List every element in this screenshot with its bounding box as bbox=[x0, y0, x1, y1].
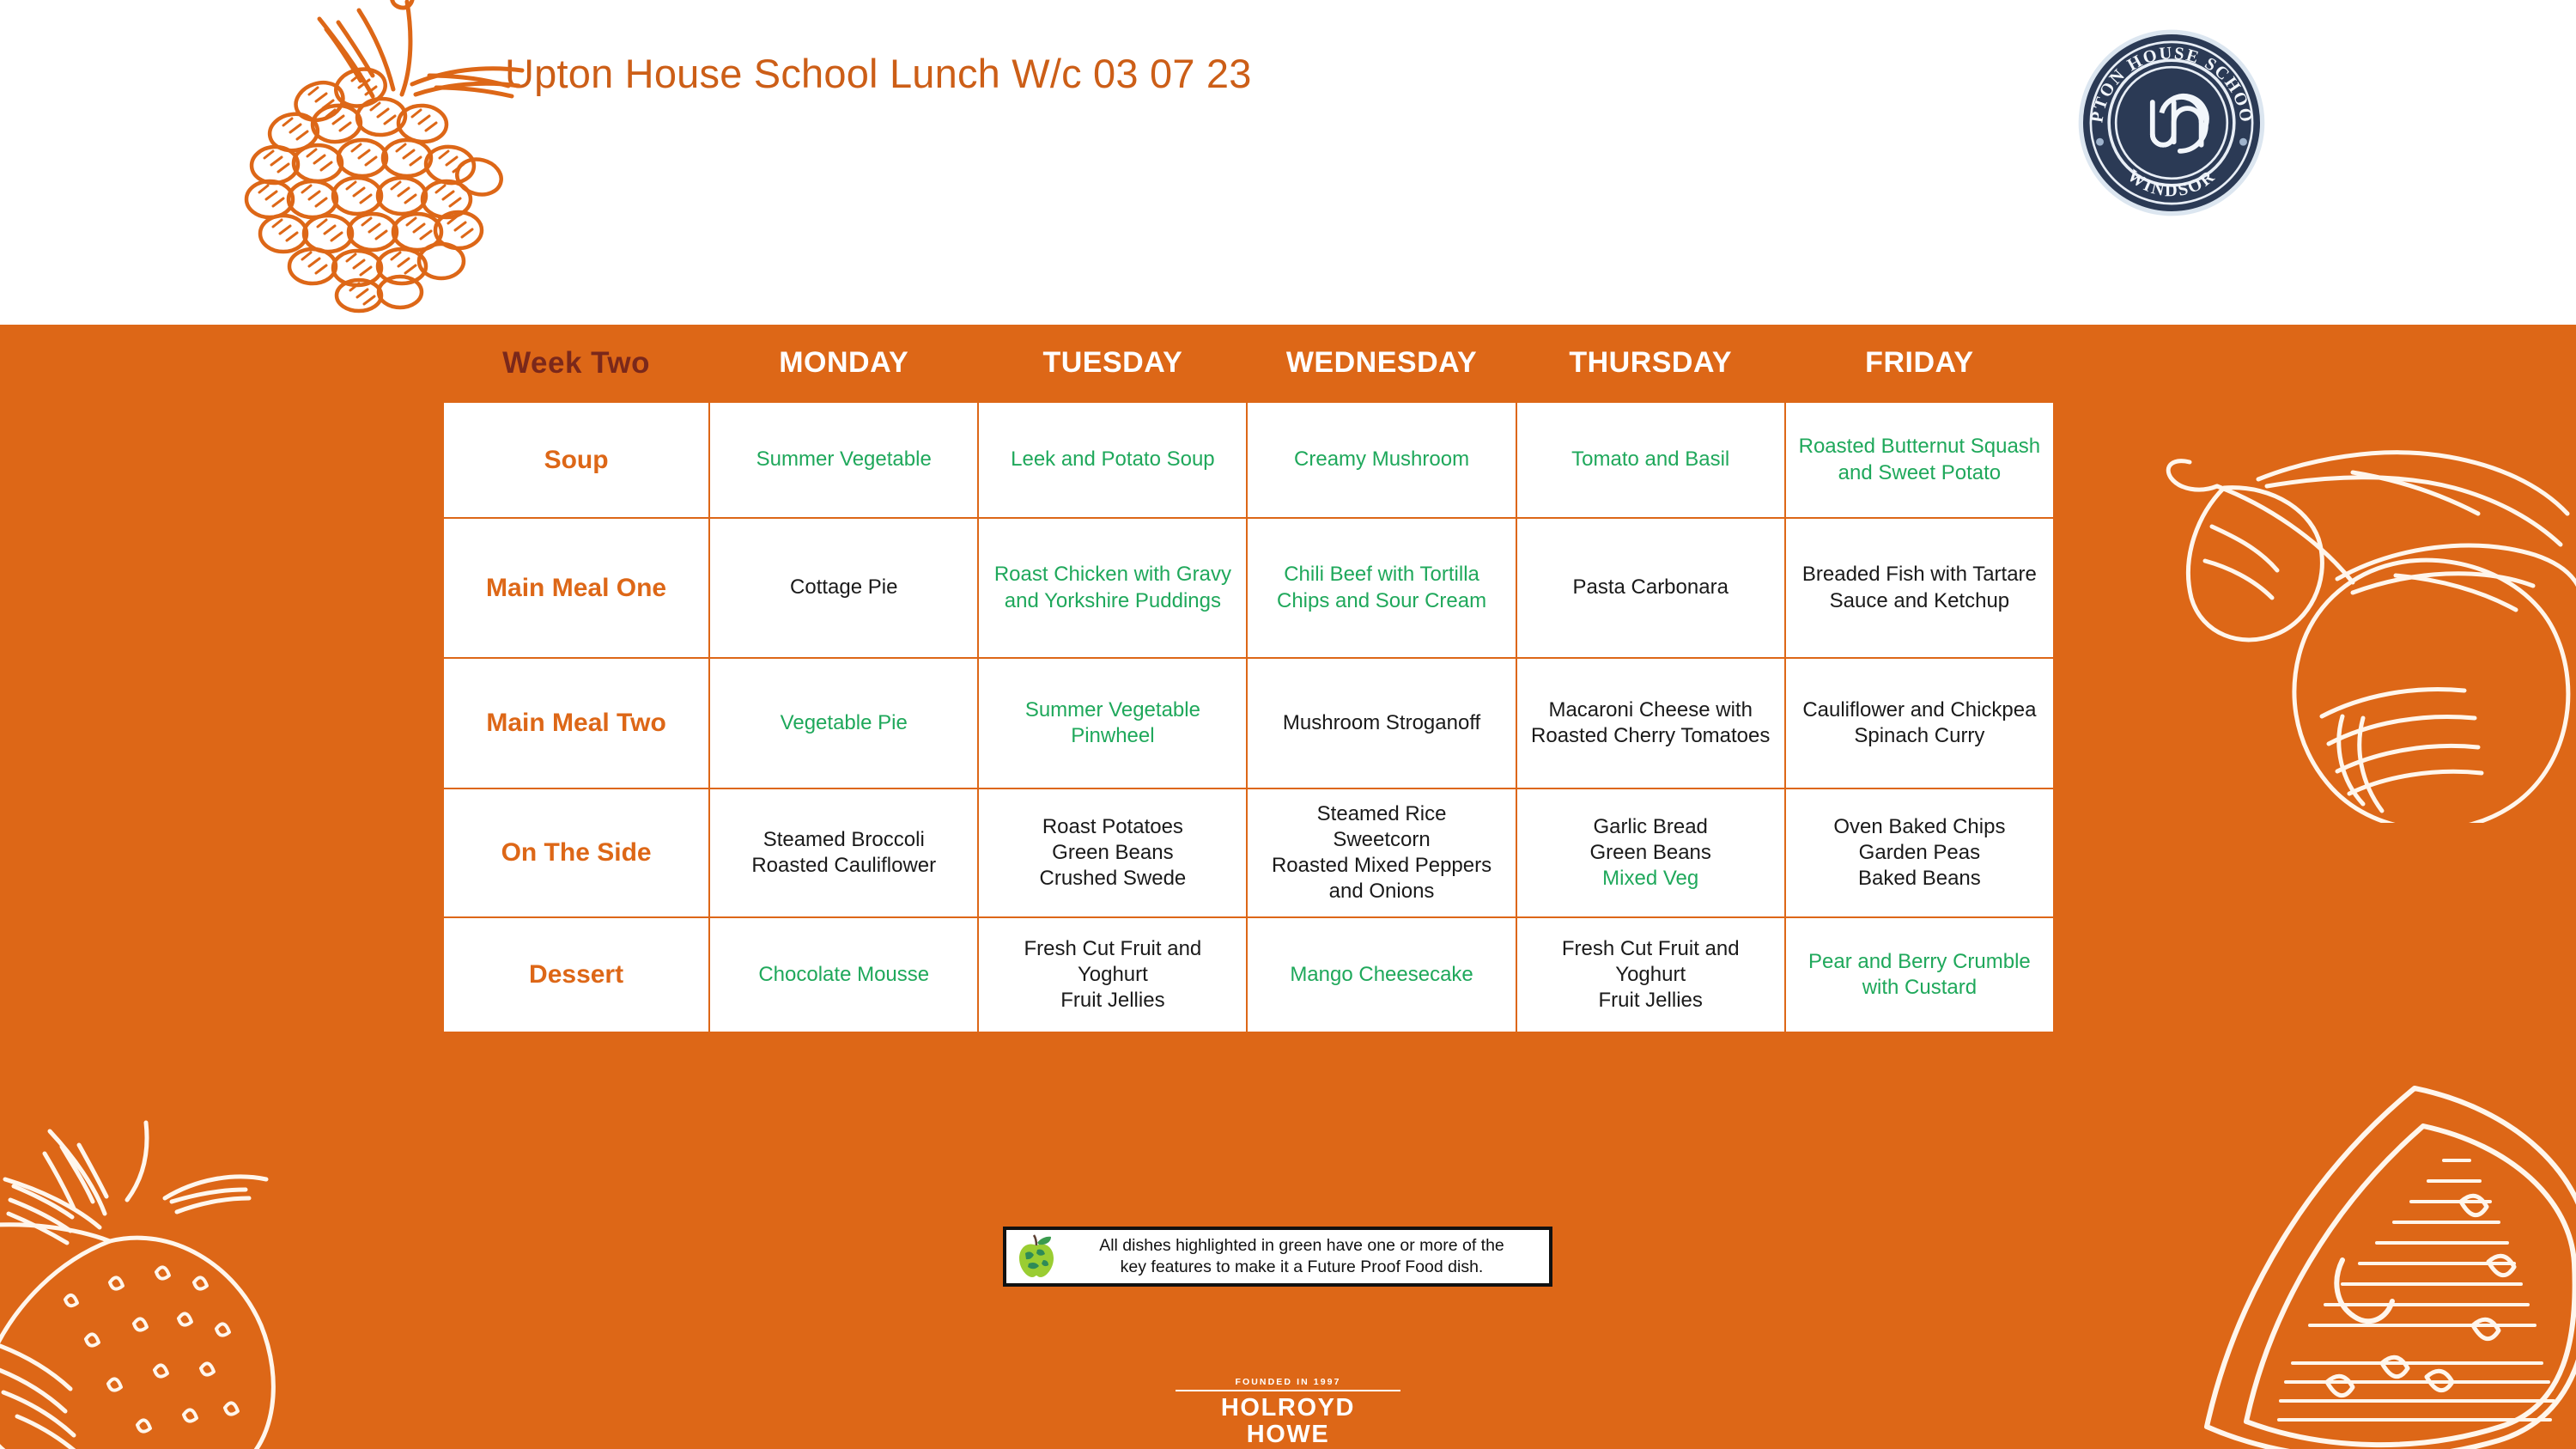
menu-cell-on-the-side-monday: Steamed BroccoliRoasted Cauliflower bbox=[709, 788, 978, 917]
dish-name: Roast Potatoes bbox=[989, 814, 1236, 840]
raspberry-illustration bbox=[230, 0, 539, 328]
menu-cell-dessert-monday: Chocolate Mousse bbox=[709, 917, 978, 1032]
dish-name: Fresh Cut Fruit and Yoghurt bbox=[989, 936, 1236, 988]
menu-cell-main-meal-one-friday: Breaded Fish with Tartare Sauce and Ketc… bbox=[1785, 518, 2054, 658]
menu-cell-on-the-side-tuesday: Roast PotatoesGreen BeansCrushed Swede bbox=[978, 788, 1247, 917]
menu-cell-on-the-side-friday: Oven Baked ChipsGarden PeasBaked Beans bbox=[1785, 788, 2054, 917]
brand-name: HOLROYD HOWE bbox=[1176, 1393, 1400, 1449]
dish-name: Mushroom Stroganoff bbox=[1258, 710, 1504, 736]
dish-name: Roast Chicken with Gravy and Yorkshire P… bbox=[989, 562, 1236, 613]
dish-name: Chili Beef with Tortilla Chips and Sour … bbox=[1258, 562, 1504, 613]
menu-cell-main-meal-two-tuesday: Summer Vegetable Pinwheel bbox=[978, 658, 1247, 788]
menu-table-body: SoupSummer VegetableLeek and Potato Soup… bbox=[443, 402, 2054, 1032]
dish-name: Green Beans bbox=[1528, 840, 1774, 866]
menu-cell-main-meal-one-tuesday: Roast Chicken with Gravy and Yorkshire P… bbox=[978, 518, 1247, 658]
menu-cell-main-meal-two-monday: Vegetable Pie bbox=[709, 658, 978, 788]
menu-cell-soup-wednesday: Creamy Mushroom bbox=[1247, 402, 1516, 518]
footnote-line-2: key features to make it a Future Proof F… bbox=[1121, 1257, 1484, 1276]
menu-cell-main-meal-two-thursday: Macaroni Cheese with Roasted Cherry Toma… bbox=[1516, 658, 1785, 788]
dish-name: Summer Vegetable bbox=[720, 447, 967, 472]
row-label-main-meal-two: Main Meal Two bbox=[443, 658, 709, 788]
dish-name: Garden Peas bbox=[1796, 840, 2043, 866]
dish-name: Mixed Veg bbox=[1528, 866, 1774, 892]
dish-name: Oven Baked Chips bbox=[1796, 814, 2043, 840]
menu-table-header: Week Two MONDAY TUESDAY WEDNESDAY THURSD… bbox=[443, 325, 2054, 402]
dish-name: Sweetcorn bbox=[1258, 827, 1504, 853]
menu-cell-on-the-side-thursday: Garlic BreadGreen BeansMixed Veg bbox=[1516, 788, 1785, 917]
header-row: Week Two MONDAY TUESDAY WEDNESDAY THURSD… bbox=[443, 325, 2054, 402]
menu-row-main-meal-one: Main Meal OneCottage PieRoast Chicken wi… bbox=[443, 518, 2054, 658]
dish-name: Roasted Butternut Squash and Sweet Potat… bbox=[1796, 434, 2043, 485]
dish-name: Steamed Broccoli bbox=[720, 827, 967, 853]
page-title: Upton House School Lunch W/c 03 07 23 bbox=[505, 50, 1252, 97]
row-label-dessert: Dessert bbox=[443, 917, 709, 1032]
dish-name: Leek and Potato Soup bbox=[989, 447, 1236, 472]
dish-name: Chocolate Mousse bbox=[720, 962, 967, 988]
menu-row-on-the-side: On The SideSteamed BroccoliRoasted Cauli… bbox=[443, 788, 2054, 917]
dish-name: Cauliflower and Chickpea Spinach Curry bbox=[1796, 697, 2043, 749]
dish-name: Fruit Jellies bbox=[1528, 988, 1774, 1014]
dish-name: Roasted Cauliflower bbox=[720, 853, 967, 879]
dish-name: Pasta Carbonara bbox=[1528, 575, 1774, 600]
future-proof-food-note: All dishes highlighted in green have one… bbox=[1003, 1227, 1552, 1287]
row-label-on-the-side: On The Side bbox=[443, 788, 709, 917]
dish-name: Garlic Bread bbox=[1528, 814, 1774, 840]
dish-name: Roasted Mixed Peppers and Onions bbox=[1258, 853, 1504, 904]
menu-cell-main-meal-two-wednesday: Mushroom Stroganoff bbox=[1247, 658, 1516, 788]
dish-name: Fruit Jellies bbox=[989, 988, 1236, 1014]
week-label: Week Two bbox=[443, 325, 709, 402]
menu-cell-main-meal-one-monday: Cottage Pie bbox=[709, 518, 978, 658]
watermelon-slice-illustration bbox=[2190, 1080, 2576, 1449]
menu-cell-dessert-friday: Pear and Berry Crumble with Custard bbox=[1785, 917, 2054, 1032]
dish-name: Tomato and Basil bbox=[1528, 447, 1774, 472]
dish-name: Crushed Swede bbox=[989, 866, 1236, 892]
dish-name: Pear and Berry Crumble with Custard bbox=[1796, 949, 2043, 1001]
row-label-main-meal-one: Main Meal One bbox=[443, 518, 709, 658]
day-header-monday: MONDAY bbox=[709, 325, 978, 402]
menu-poster: Upton House School Lunch W/c 03 07 23 bbox=[0, 0, 2576, 1449]
day-header-friday: FRIDAY bbox=[1785, 325, 2054, 402]
menu-row-main-meal-two: Main Meal TwoVegetable PieSummer Vegetab… bbox=[443, 658, 2054, 788]
menu-cell-dessert-wednesday: Mango Cheesecake bbox=[1247, 917, 1516, 1032]
dish-name: Summer Vegetable Pinwheel bbox=[989, 697, 1236, 749]
day-header-tuesday: TUESDAY bbox=[978, 325, 1247, 402]
menu-row-dessert: DessertChocolate MousseFresh Cut Fruit a… bbox=[443, 917, 2054, 1032]
menu-table: Week Two MONDAY TUESDAY WEDNESDAY THURSD… bbox=[442, 325, 2055, 1033]
menu-cell-main-meal-two-friday: Cauliflower and Chickpea Spinach Curry bbox=[1785, 658, 2054, 788]
menu-table-wrapper: Week Two MONDAY TUESDAY WEDNESDAY THURSD… bbox=[442, 325, 2057, 1033]
footnote-line-1: All dishes highlighted in green have one… bbox=[1099, 1236, 1504, 1255]
dish-name: Vegetable Pie bbox=[720, 710, 967, 736]
holroyd-howe-logo: FOUNDED IN 1997 HOLROYD HOWE FEEDING IND… bbox=[1176, 1377, 1400, 1449]
menu-cell-dessert-tuesday: Fresh Cut Fruit and YoghurtFruit Jellies bbox=[978, 917, 1247, 1032]
dish-name: Fresh Cut Fruit and Yoghurt bbox=[1528, 936, 1774, 988]
dish-name: Creamy Mushroom bbox=[1258, 447, 1504, 472]
school-crest-logo: UPTON HOUSE SCHOOL WINDSOR bbox=[2064, 27, 2279, 218]
menu-cell-main-meal-one-wednesday: Chili Beef with Tortilla Chips and Sour … bbox=[1247, 518, 1516, 658]
brand-rule-top bbox=[1176, 1390, 1400, 1391]
dish-name: Cottage Pie bbox=[720, 575, 967, 600]
menu-cell-on-the-side-wednesday: Steamed RiceSweetcornRoasted Mixed Peppe… bbox=[1247, 788, 1516, 917]
day-header-thursday: THURSDAY bbox=[1516, 325, 1785, 402]
menu-cell-soup-thursday: Tomato and Basil bbox=[1516, 402, 1785, 518]
dish-name: Steamed Rice bbox=[1258, 801, 1504, 827]
dish-name: Mango Cheesecake bbox=[1258, 962, 1504, 988]
dish-name: Baked Beans bbox=[1796, 866, 2043, 892]
menu-cell-soup-tuesday: Leek and Potato Soup bbox=[978, 402, 1247, 518]
menu-row-soup: SoupSummer VegetableLeek and Potato Soup… bbox=[443, 402, 2054, 518]
row-label-soup: Soup bbox=[443, 402, 709, 518]
green-apple-globe-icon bbox=[1017, 1234, 1056, 1279]
menu-cell-main-meal-one-thursday: Pasta Carbonara bbox=[1516, 518, 1785, 658]
menu-cell-soup-monday: Summer Vegetable bbox=[709, 402, 978, 518]
peach-illustration bbox=[2138, 376, 2576, 823]
strawberry-illustration bbox=[0, 1097, 292, 1449]
day-header-wednesday: WEDNESDAY bbox=[1247, 325, 1516, 402]
footnote-text: All dishes highlighted in green have one… bbox=[1065, 1235, 1539, 1278]
dish-name: Macaroni Cheese with Roasted Cherry Toma… bbox=[1528, 697, 1774, 749]
dish-name: Green Beans bbox=[989, 840, 1236, 866]
menu-cell-dessert-thursday: Fresh Cut Fruit and YoghurtFruit Jellies bbox=[1516, 917, 1785, 1032]
menu-cell-soup-friday: Roasted Butternut Squash and Sweet Potat… bbox=[1785, 402, 2054, 518]
brand-founded: FOUNDED IN 1997 bbox=[1176, 1377, 1400, 1387]
dish-name: Breaded Fish with Tartare Sauce and Ketc… bbox=[1796, 562, 2043, 613]
